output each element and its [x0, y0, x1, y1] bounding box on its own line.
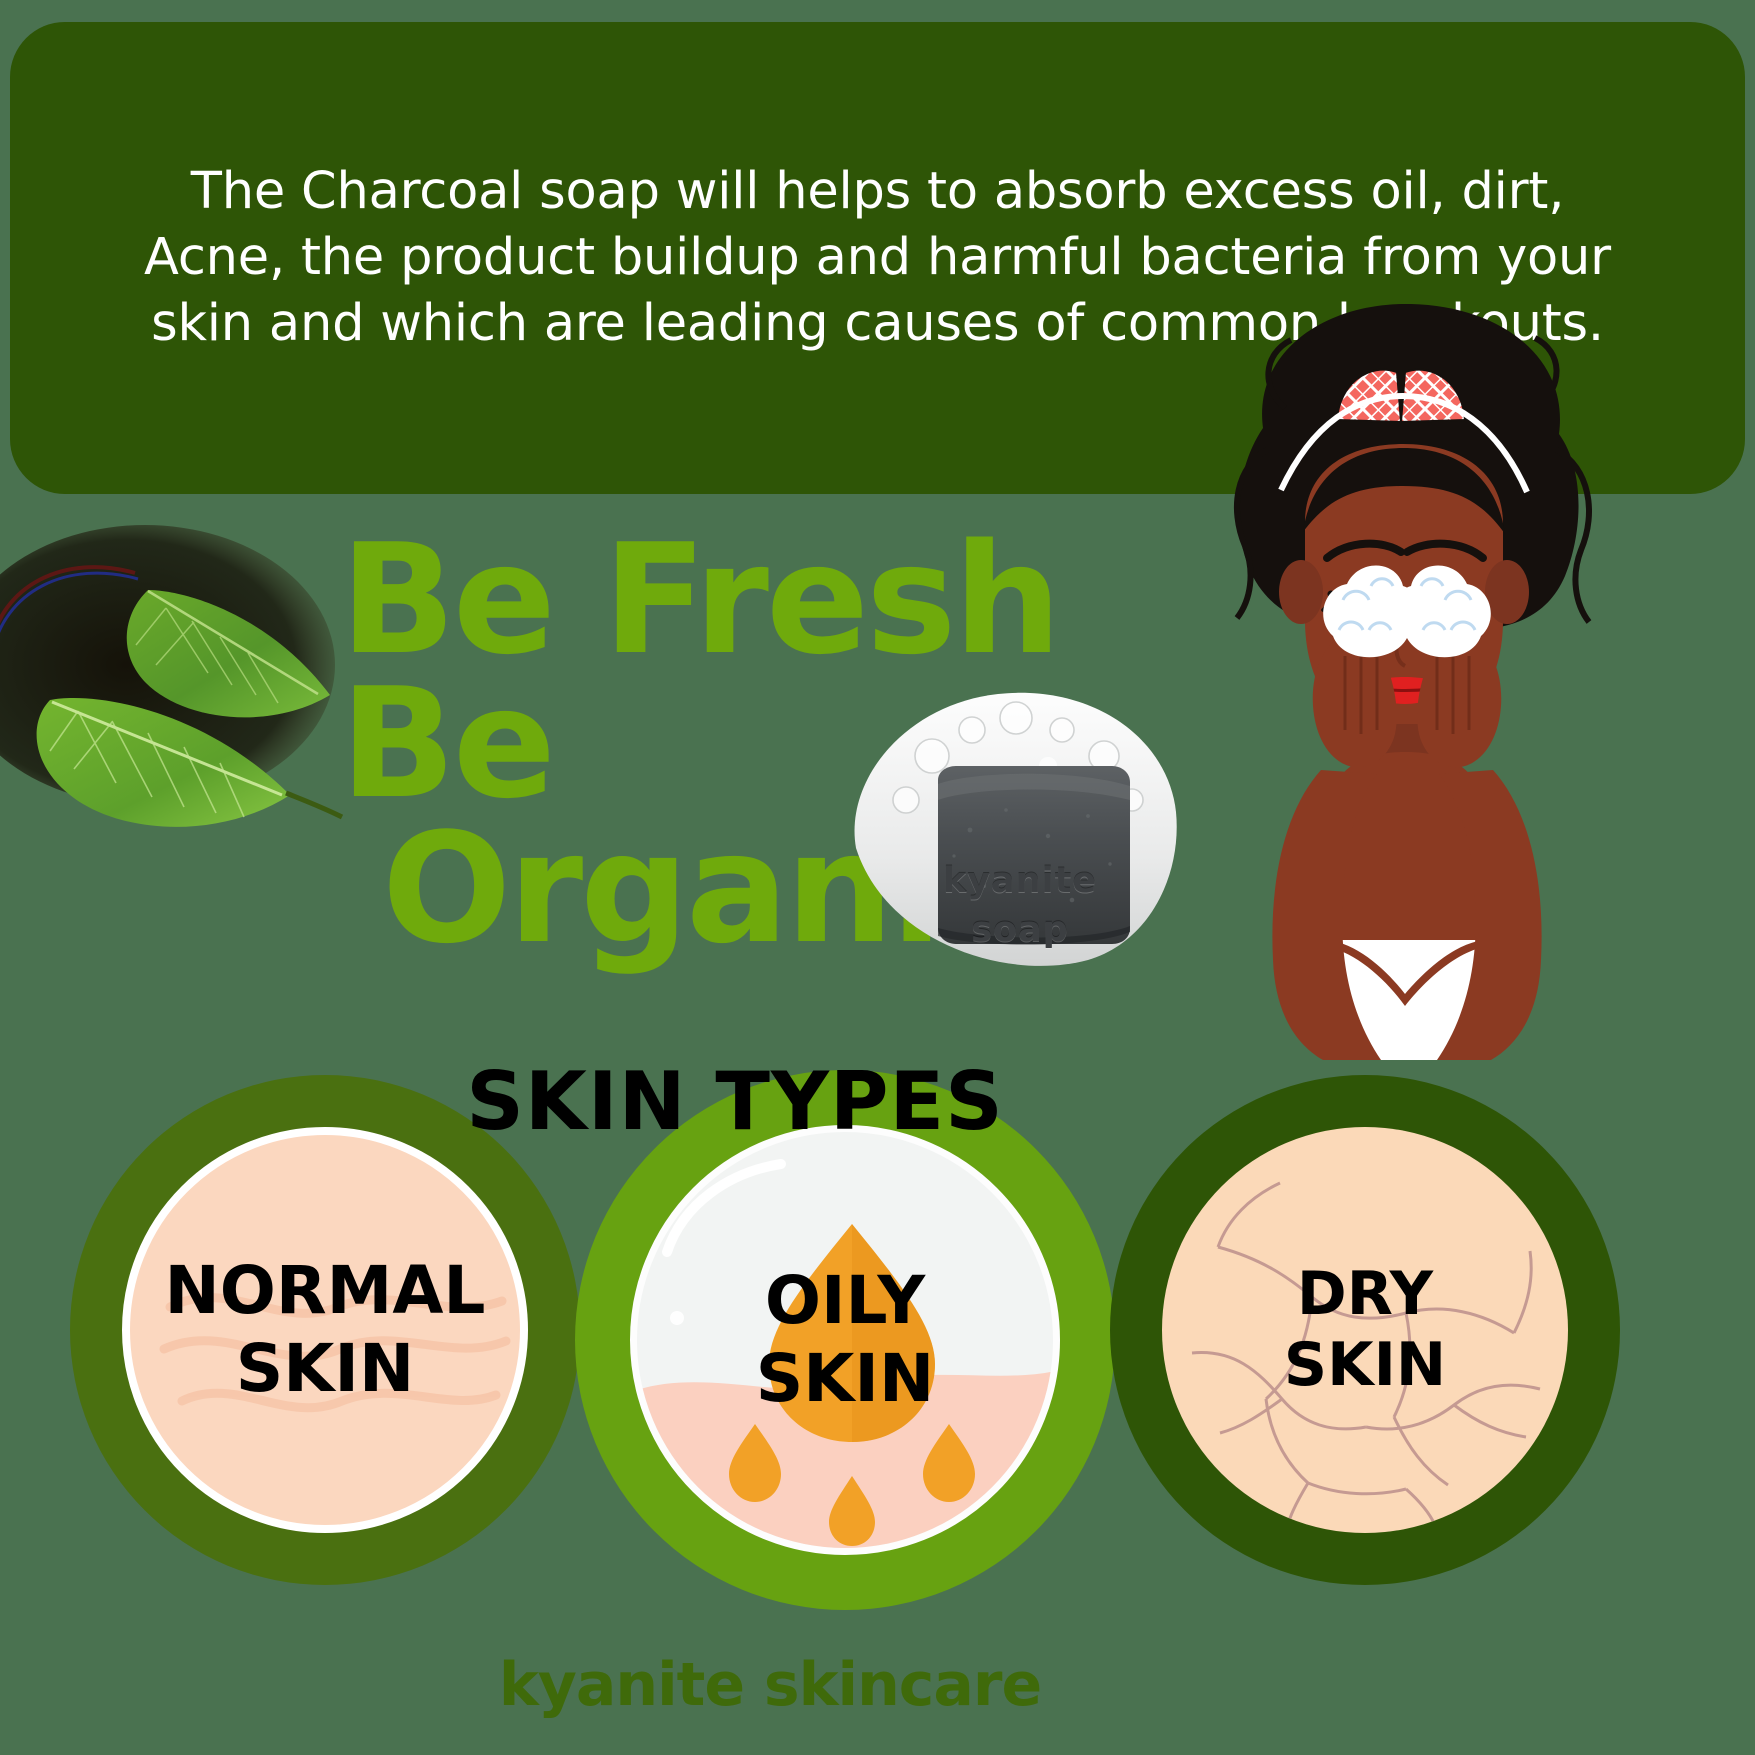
- dry-skin-label-line1: DRY: [1284, 1259, 1446, 1330]
- brand-name: kyanite skincare: [0, 1650, 1540, 1720]
- woman-washing-face-illustration: [1145, 300, 1675, 1060]
- dry-skin-label-line2: SKIN: [1284, 1330, 1446, 1401]
- normal-skin-label-line1: NORMAL: [165, 1252, 486, 1330]
- skin-types-title: SKIN TYPES: [0, 1055, 1470, 1148]
- oily-skin-label-line2: SKIN: [756, 1340, 934, 1418]
- normal-skin-label: NORMAL SKIN: [165, 1252, 486, 1408]
- dry-skin-label: DRY SKIN: [1284, 1259, 1446, 1401]
- infographic-canvas: The Charcoal soap will helps to absorb e…: [0, 0, 1755, 1755]
- oily-skin-swatch: OILY SKIN: [630, 1125, 1060, 1555]
- leaves-illustration: [0, 495, 440, 845]
- oily-skin-label-line1: OILY: [756, 1262, 934, 1340]
- oily-skin-label: OILY SKIN: [756, 1262, 934, 1418]
- skin-type-card-normal[interactable]: NORMAL SKIN: [70, 1075, 580, 1585]
- normal-skin-swatch: NORMAL SKIN: [122, 1127, 528, 1533]
- skin-type-card-dry[interactable]: DRY SKIN: [1110, 1075, 1620, 1585]
- dry-skin-swatch: DRY SKIN: [1162, 1127, 1568, 1533]
- normal-skin-label-line2: SKIN: [165, 1330, 486, 1408]
- skin-type-card-oily[interactable]: OILY SKIN: [575, 1070, 1115, 1610]
